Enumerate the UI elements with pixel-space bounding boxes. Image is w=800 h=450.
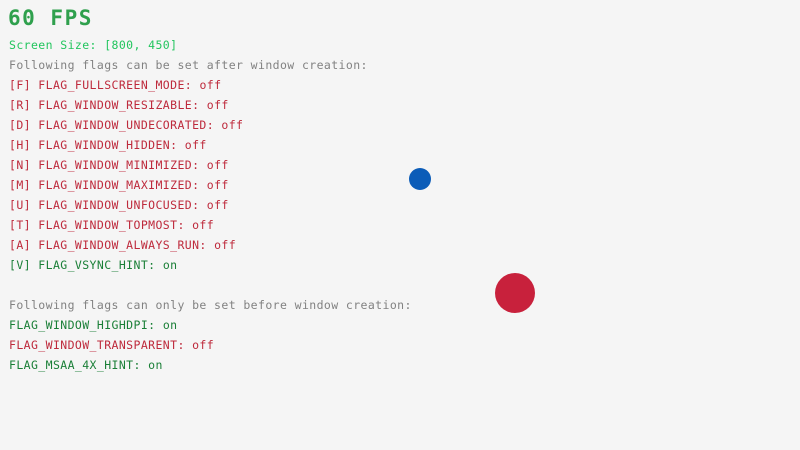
flag-separator: : — [192, 158, 207, 172]
flag-name: FLAG_WINDOW_MAXIMIZED — [38, 178, 192, 192]
flag-value: off — [221, 118, 243, 132]
flag-separator: : — [170, 138, 185, 152]
section-header-after-creation: Following flags can be set after window … — [9, 58, 368, 72]
flag-value: off — [192, 218, 214, 232]
flag-name: FLAG_WINDOW_ALWAYS_RUN — [38, 238, 199, 252]
flag-name: FLAG_WINDOW_HIDDEN — [38, 138, 170, 152]
flag-value: off — [214, 238, 236, 252]
flag-hotkey: [V] — [9, 258, 38, 272]
flag-separator: : — [192, 98, 207, 112]
flag-hotkey: [T] — [9, 218, 38, 232]
flag-name: FLAG_WINDOW_HIGHDPI — [9, 318, 148, 332]
flag-separator: : — [192, 178, 207, 192]
flag-name: FLAG_WINDOW_UNDECORATED — [38, 118, 206, 132]
flag-hotkey: [H] — [9, 138, 38, 152]
section-header-before-creation: Following flags can only be set before w… — [9, 298, 412, 312]
flag-row-flag-window-highdpi[interactable]: FLAG_WINDOW_HIGHDPI: on — [9, 318, 177, 332]
flag-row-flag-window-topmost[interactable]: [T] FLAG_WINDOW_TOPMOST: off — [9, 218, 214, 232]
flag-row-flag-window-transparent[interactable]: FLAG_WINDOW_TRANSPARENT: off — [9, 338, 214, 352]
fps-counter: 60 FPS — [8, 6, 93, 30]
flag-row-flag-window-undecorated[interactable]: [D] FLAG_WINDOW_UNDECORATED: off — [9, 118, 243, 132]
flag-value: off — [207, 178, 229, 192]
flag-row-flag-window-resizable[interactable]: [R] FLAG_WINDOW_RESIZABLE: off — [9, 98, 229, 112]
flag-value: off — [192, 338, 214, 352]
flag-value: off — [199, 78, 221, 92]
flag-separator: : — [148, 258, 163, 272]
flag-separator: : — [177, 218, 192, 232]
raylib-window-canvas[interactable]: 60 FPS Screen Size: [800, 450] Following… — [0, 0, 800, 450]
flag-value: off — [185, 138, 207, 152]
flag-name: FLAG_WINDOW_TRANSPARENT — [9, 338, 177, 352]
flag-row-flag-window-hidden[interactable]: [H] FLAG_WINDOW_HIDDEN: off — [9, 138, 207, 152]
flag-name: FLAG_VSYNC_HINT — [38, 258, 148, 272]
flag-value: off — [207, 158, 229, 172]
red-ball-shape — [495, 273, 535, 313]
flag-hotkey: [A] — [9, 238, 38, 252]
flag-separator: : — [199, 238, 214, 252]
flag-separator: : — [134, 358, 149, 372]
flag-row-flag-msaa-4x-hint[interactable]: FLAG_MSAA_4X_HINT: on — [9, 358, 163, 372]
flag-row-flag-window-unfocused[interactable]: [U] FLAG_WINDOW_UNFOCUSED: off — [9, 198, 229, 212]
flag-name: FLAG_WINDOW_TOPMOST — [38, 218, 177, 232]
flag-row-flag-window-minimized[interactable]: [N] FLAG_WINDOW_MINIMIZED: off — [9, 158, 229, 172]
flag-separator: : — [177, 338, 192, 352]
flag-hotkey: [M] — [9, 178, 38, 192]
flag-value: on — [163, 318, 178, 332]
flag-name: FLAG_FULLSCREEN_MODE — [38, 78, 184, 92]
flag-name: FLAG_WINDOW_MINIMIZED — [38, 158, 192, 172]
flag-separator: : — [192, 198, 207, 212]
flag-hotkey: [U] — [9, 198, 38, 212]
flag-row-flag-window-always-run[interactable]: [A] FLAG_WINDOW_ALWAYS_RUN: off — [9, 238, 236, 252]
blue-ball-shape — [409, 168, 431, 190]
flag-separator: : — [207, 118, 222, 132]
flag-row-flag-fullscreen-mode[interactable]: [F] FLAG_FULLSCREEN_MODE: off — [9, 78, 221, 92]
flag-hotkey: [F] — [9, 78, 38, 92]
screen-size-label: Screen Size: [800, 450] — [9, 38, 177, 52]
flag-hotkey: [D] — [9, 118, 38, 132]
flag-name: FLAG_MSAA_4X_HINT — [9, 358, 134, 372]
flag-hotkey: [R] — [9, 98, 38, 112]
flag-row-flag-vsync-hint[interactable]: [V] FLAG_VSYNC_HINT: on — [9, 258, 177, 272]
flag-value: on — [163, 258, 178, 272]
flag-separator: : — [185, 78, 200, 92]
flag-value: off — [207, 198, 229, 212]
flag-value: on — [148, 358, 163, 372]
flag-row-flag-window-maximized[interactable]: [M] FLAG_WINDOW_MAXIMIZED: off — [9, 178, 229, 192]
flag-name: FLAG_WINDOW_RESIZABLE — [38, 98, 192, 112]
flag-separator: : — [148, 318, 163, 332]
flag-hotkey: [N] — [9, 158, 38, 172]
flag-name: FLAG_WINDOW_UNFOCUSED — [38, 198, 192, 212]
flag-value: off — [207, 98, 229, 112]
